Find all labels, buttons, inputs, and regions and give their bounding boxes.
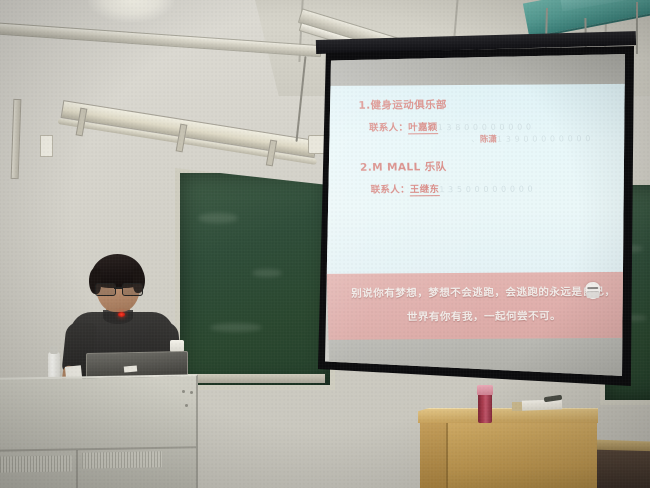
- cabinet-vent-right: [82, 451, 162, 468]
- secondary-contact-name: 陈潇: [480, 135, 497, 145]
- projector-screen-surface: 1.健身运动俱乐部 联系人：叶嘉颖1 3 8 0 0 0 0 0 0 0 0 、…: [325, 54, 625, 376]
- club-1-contact-label: 联系人：: [369, 122, 408, 133]
- club-2-contact-name: 王继东: [410, 184, 440, 196]
- secondary-contact-phone: 1 3 9 0 0 0 0 0 0 0 0: [497, 134, 591, 144]
- club-1-contact-phone: 1 3 8 0 0 0 0 0 0 0 0: [438, 123, 532, 133]
- cabinet-vent-left: [0, 455, 72, 472]
- thermos-bottle: [478, 393, 492, 423]
- banner-line-1: 别说你有梦想，梦想不会逃跑，会逃跑的永远是自己，: [327, 284, 625, 301]
- slide-text-block: 1.健身运动俱乐部 联系人：叶嘉颖1 3 8 0 0 0 0 0 0 0 0 、…: [325, 84, 625, 276]
- glasses-lens-right: [122, 283, 143, 296]
- secondary-contact-separator: 、: [471, 135, 480, 144]
- classroom-photo-scene: 1.健身运动俱乐部 联系人：叶嘉颖1 3 8 0 0 0 0 0 0 0 0 、…: [0, 0, 650, 488]
- banner-line-2: 世界有你有我，一起何尝不可。: [328, 308, 625, 325]
- wall-outlet: [308, 135, 326, 154]
- club-2-contact-line: 联系人：王继东1 3 5 0 0 0 0 0 0 0 0: [370, 180, 533, 195]
- slide-quote-banner: 别说你有梦想，梦想不会逃跑，会逃跑的永远是自己， 世界有你有我，一起何尝不可。: [327, 272, 625, 342]
- glasses-lens-left: [95, 283, 116, 296]
- club-1-contact-name: 叶嘉颖: [408, 122, 438, 134]
- club-2-contact-phone: 1 3 5 0 0 0 0 0 0 0 0: [439, 184, 533, 194]
- cabinet-screw: [185, 404, 188, 407]
- laptop-sticker: [124, 365, 137, 372]
- club-2-contact-label: 联系人：: [370, 184, 409, 195]
- ceiling-hanging-rod: [636, 2, 638, 54]
- club-1-secondary-contact: 、陈潇1 3 9 0 0 0 0 0 0 0 0: [471, 132, 591, 145]
- cabinet-divider: [76, 450, 78, 488]
- papers-on-lectern: [522, 399, 562, 410]
- face-with-medical-mask-emoji: [585, 282, 600, 299]
- glasses-icon: [94, 283, 142, 294]
- lectern-corner-edge: [446, 418, 448, 488]
- wall-plate: [40, 135, 53, 157]
- projected-slide: 1.健身运动俱乐部 联系人：叶嘉颖1 3 8 0 0 0 0 0 0 0 0 、…: [325, 54, 625, 376]
- glasses-bridge: [114, 287, 122, 289]
- lectern-top-surface: [418, 408, 598, 423]
- club-1-heading: 1.健身运动俱乐部: [358, 97, 447, 113]
- club-2-heading: 2.M MALL 乐队: [360, 159, 447, 175]
- chalkboard-left: [175, 168, 335, 390]
- laser-pointer-light: [118, 312, 125, 317]
- club-1-contact-line: 联系人：叶嘉颖1 3 8 0 0 0 0 0 0 0 0: [369, 119, 532, 134]
- ceiling-lamp-glow: [88, 0, 174, 22]
- thermos-cap: [477, 385, 493, 395]
- water-bottle-cap: [50, 346, 58, 354]
- cabinet-screw: [190, 391, 193, 394]
- lectern-side-panel: [420, 418, 448, 488]
- cabinet-screw: [182, 390, 185, 393]
